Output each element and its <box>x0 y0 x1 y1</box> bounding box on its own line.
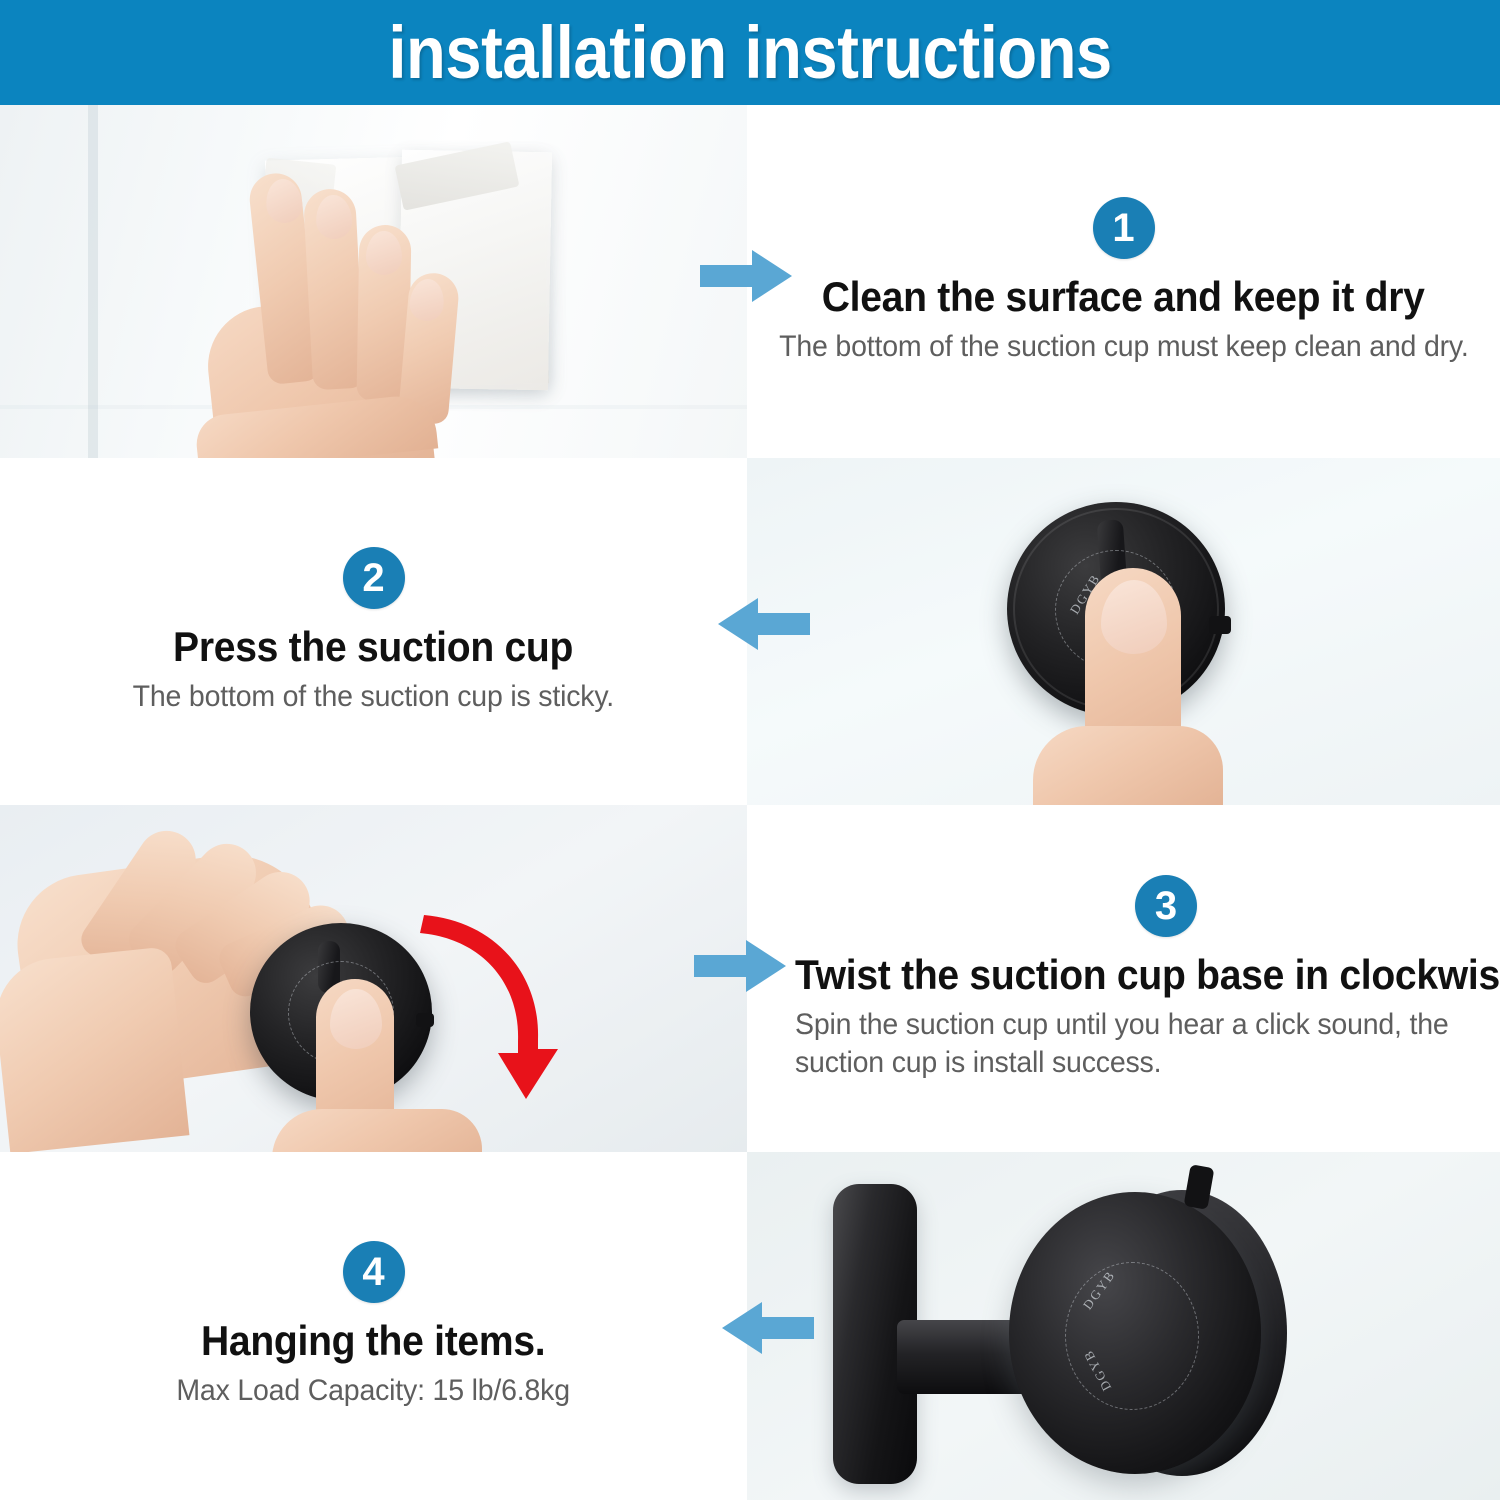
step-subtitle-2: The bottom of the suction cup is sticky. <box>133 678 614 716</box>
arrow-right-icon-step-3 <box>694 938 786 994</box>
step-subtitle-3-line-1: Spin the suction cup until you hear a cl… <box>795 1006 1449 1044</box>
step-row-1: 1 Clean the surface and keep it dry The … <box>0 105 1500 458</box>
step-1-text-cell: 1 Clean the surface and keep it dry The … <box>747 105 1500 458</box>
page-title: installation instructions <box>388 16 1111 90</box>
installation-instructions-page: installation instructions <box>0 0 1500 1500</box>
step-subtitle-4: Max Load Capacity: 15 lb/6.8kg <box>177 1372 571 1410</box>
step-3-text-cell: 3 Twist the suction cup base in clockwis… <box>747 805 1500 1152</box>
step-row-2: 2 Press the suction cup The bottom of th… <box>0 458 1500 805</box>
step-subtitle-3-line-2: suction cup is install success. <box>795 1044 1161 1082</box>
step-3-text-panel: 3 Twist the suction cup base in clockwis… <box>747 805 1500 1152</box>
step-number-badge-2: 2 <box>343 547 405 609</box>
step-row-3: 3 Twist the suction cup base in clockwis… <box>0 805 1500 1152</box>
step-number-badge-3: 3 <box>1135 875 1197 937</box>
step-2-image-cell: DGYB <box>747 458 1500 805</box>
step-title-1: Clean the surface and keep it dry <box>822 273 1425 320</box>
page-header: installation instructions <box>0 0 1500 105</box>
step-subtitle-1: The bottom of the suction cup must keep … <box>779 328 1468 366</box>
step-number-badge-4: 4 <box>343 1241 405 1303</box>
step-4-text-cell: 4 Hanging the items. Max Load Capacity: … <box>0 1152 747 1500</box>
rotation-arrow-icon <box>398 913 568 1113</box>
step-3-image-cell <box>0 805 747 1152</box>
step-4-text-panel: 4 Hanging the items. Max Load Capacity: … <box>0 1152 747 1500</box>
steps-grid: 1 Clean the surface and keep it dry The … <box>0 105 1500 1500</box>
step-number-badge-1: 1 <box>1093 197 1155 259</box>
step-title-2: Press the suction cup <box>173 623 573 670</box>
step-1-text-panel: 1 Clean the surface and keep it dry The … <box>747 105 1500 458</box>
step-title-4: Hanging the items. <box>201 1317 545 1364</box>
arrow-left-icon-step-2 <box>718 596 810 652</box>
photo-twist-suction-cup <box>0 805 747 1152</box>
photo-clean-surface <box>0 105 747 458</box>
step-2-text-panel: 2 Press the suction cup The bottom of th… <box>0 458 747 805</box>
photo-press-suction-cup: DGYB <box>747 458 1500 805</box>
step-1-image-cell <box>0 105 747 458</box>
step-title-3: Twist the suction cup base in clockwise. <box>795 951 1500 998</box>
arrow-right-icon-step-1 <box>700 248 792 304</box>
arrow-left-icon-step-4 <box>722 1300 814 1356</box>
step-row-4: 4 Hanging the items. Max Load Capacity: … <box>0 1152 1500 1500</box>
step-4-image-cell: DGYB DGYB <box>747 1152 1500 1500</box>
step-2-text-cell: 2 Press the suction cup The bottom of th… <box>0 458 747 805</box>
photo-product-hook: DGYB DGYB <box>747 1152 1500 1500</box>
